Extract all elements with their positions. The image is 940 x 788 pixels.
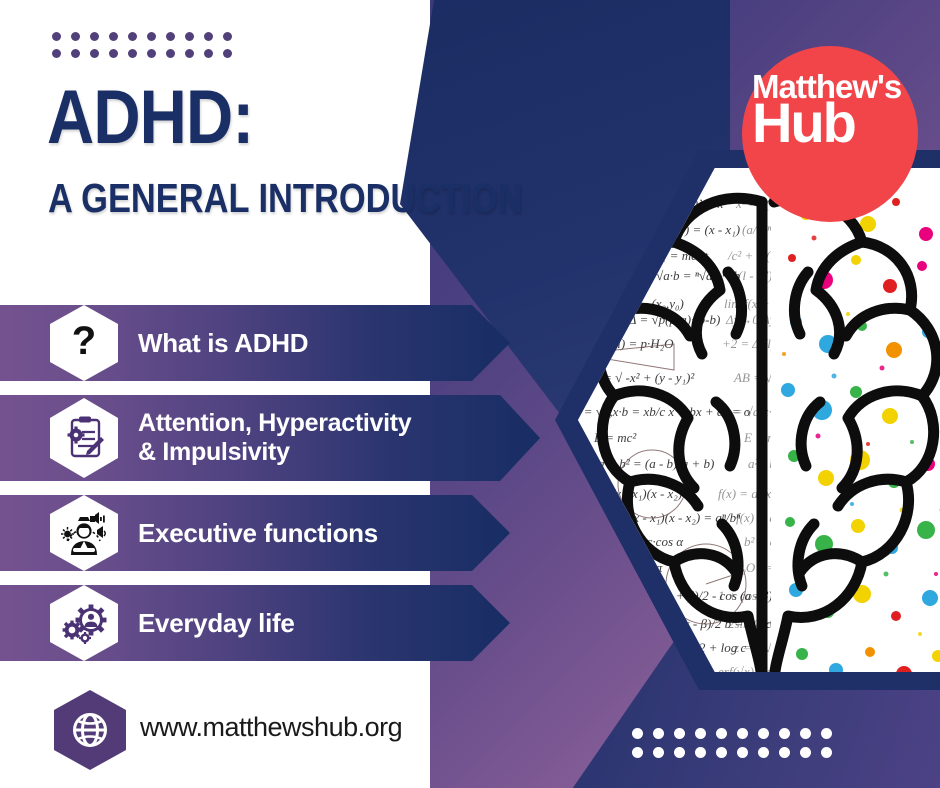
topic-label: Executive functions xyxy=(138,518,378,549)
svg-text:?: ? xyxy=(72,321,96,363)
question-mark-icon: ? xyxy=(50,305,118,381)
topic-bar-attention-hyperactivity-impulsivity[interactable]: Attention, Hyperactivity & Impulsivity xyxy=(0,395,540,481)
logo-brand-bottom: Hub xyxy=(752,95,940,151)
topic-label-line2: & Impulsivity xyxy=(138,438,290,466)
topic-label: Attention, Hyperactivity & Impulsivity xyxy=(138,409,411,468)
dot-row xyxy=(52,49,232,58)
page-subtitle: A GENERAL INTRODUCTION xyxy=(48,178,523,219)
gears-person-icon xyxy=(50,585,118,661)
infographic-canvas: x² - c (½ x + c)ʼ = (c)ʼ = x (a/b)ⁿ = aⁿ… xyxy=(0,0,940,788)
dot-row xyxy=(632,747,832,758)
topic-bar-everyday-life[interactable]: Everyday life xyxy=(0,585,510,661)
page-title: ADHD: xyxy=(47,82,253,154)
globe-icon xyxy=(54,690,126,770)
decorative-dot-grid-top xyxy=(52,32,232,66)
website-url[interactable]: www.matthewshub.org xyxy=(140,712,402,743)
topic-bar-executive-functions[interactable]: Executive functions xyxy=(0,495,510,571)
topic-bar-what-is-adhd[interactable]: ? What is ADHD xyxy=(0,305,510,381)
decorative-dot-grid-bottom xyxy=(632,728,832,766)
topic-label: Everyday life xyxy=(138,608,295,639)
dot-row xyxy=(632,728,832,739)
topic-label-line1: Attention, Hyperactivity xyxy=(138,409,411,437)
dot-row xyxy=(52,32,232,41)
clipboard-gear-pencil-icon xyxy=(50,398,118,478)
topic-label: What is ADHD xyxy=(138,328,308,359)
person-distraction-icon xyxy=(50,495,118,571)
